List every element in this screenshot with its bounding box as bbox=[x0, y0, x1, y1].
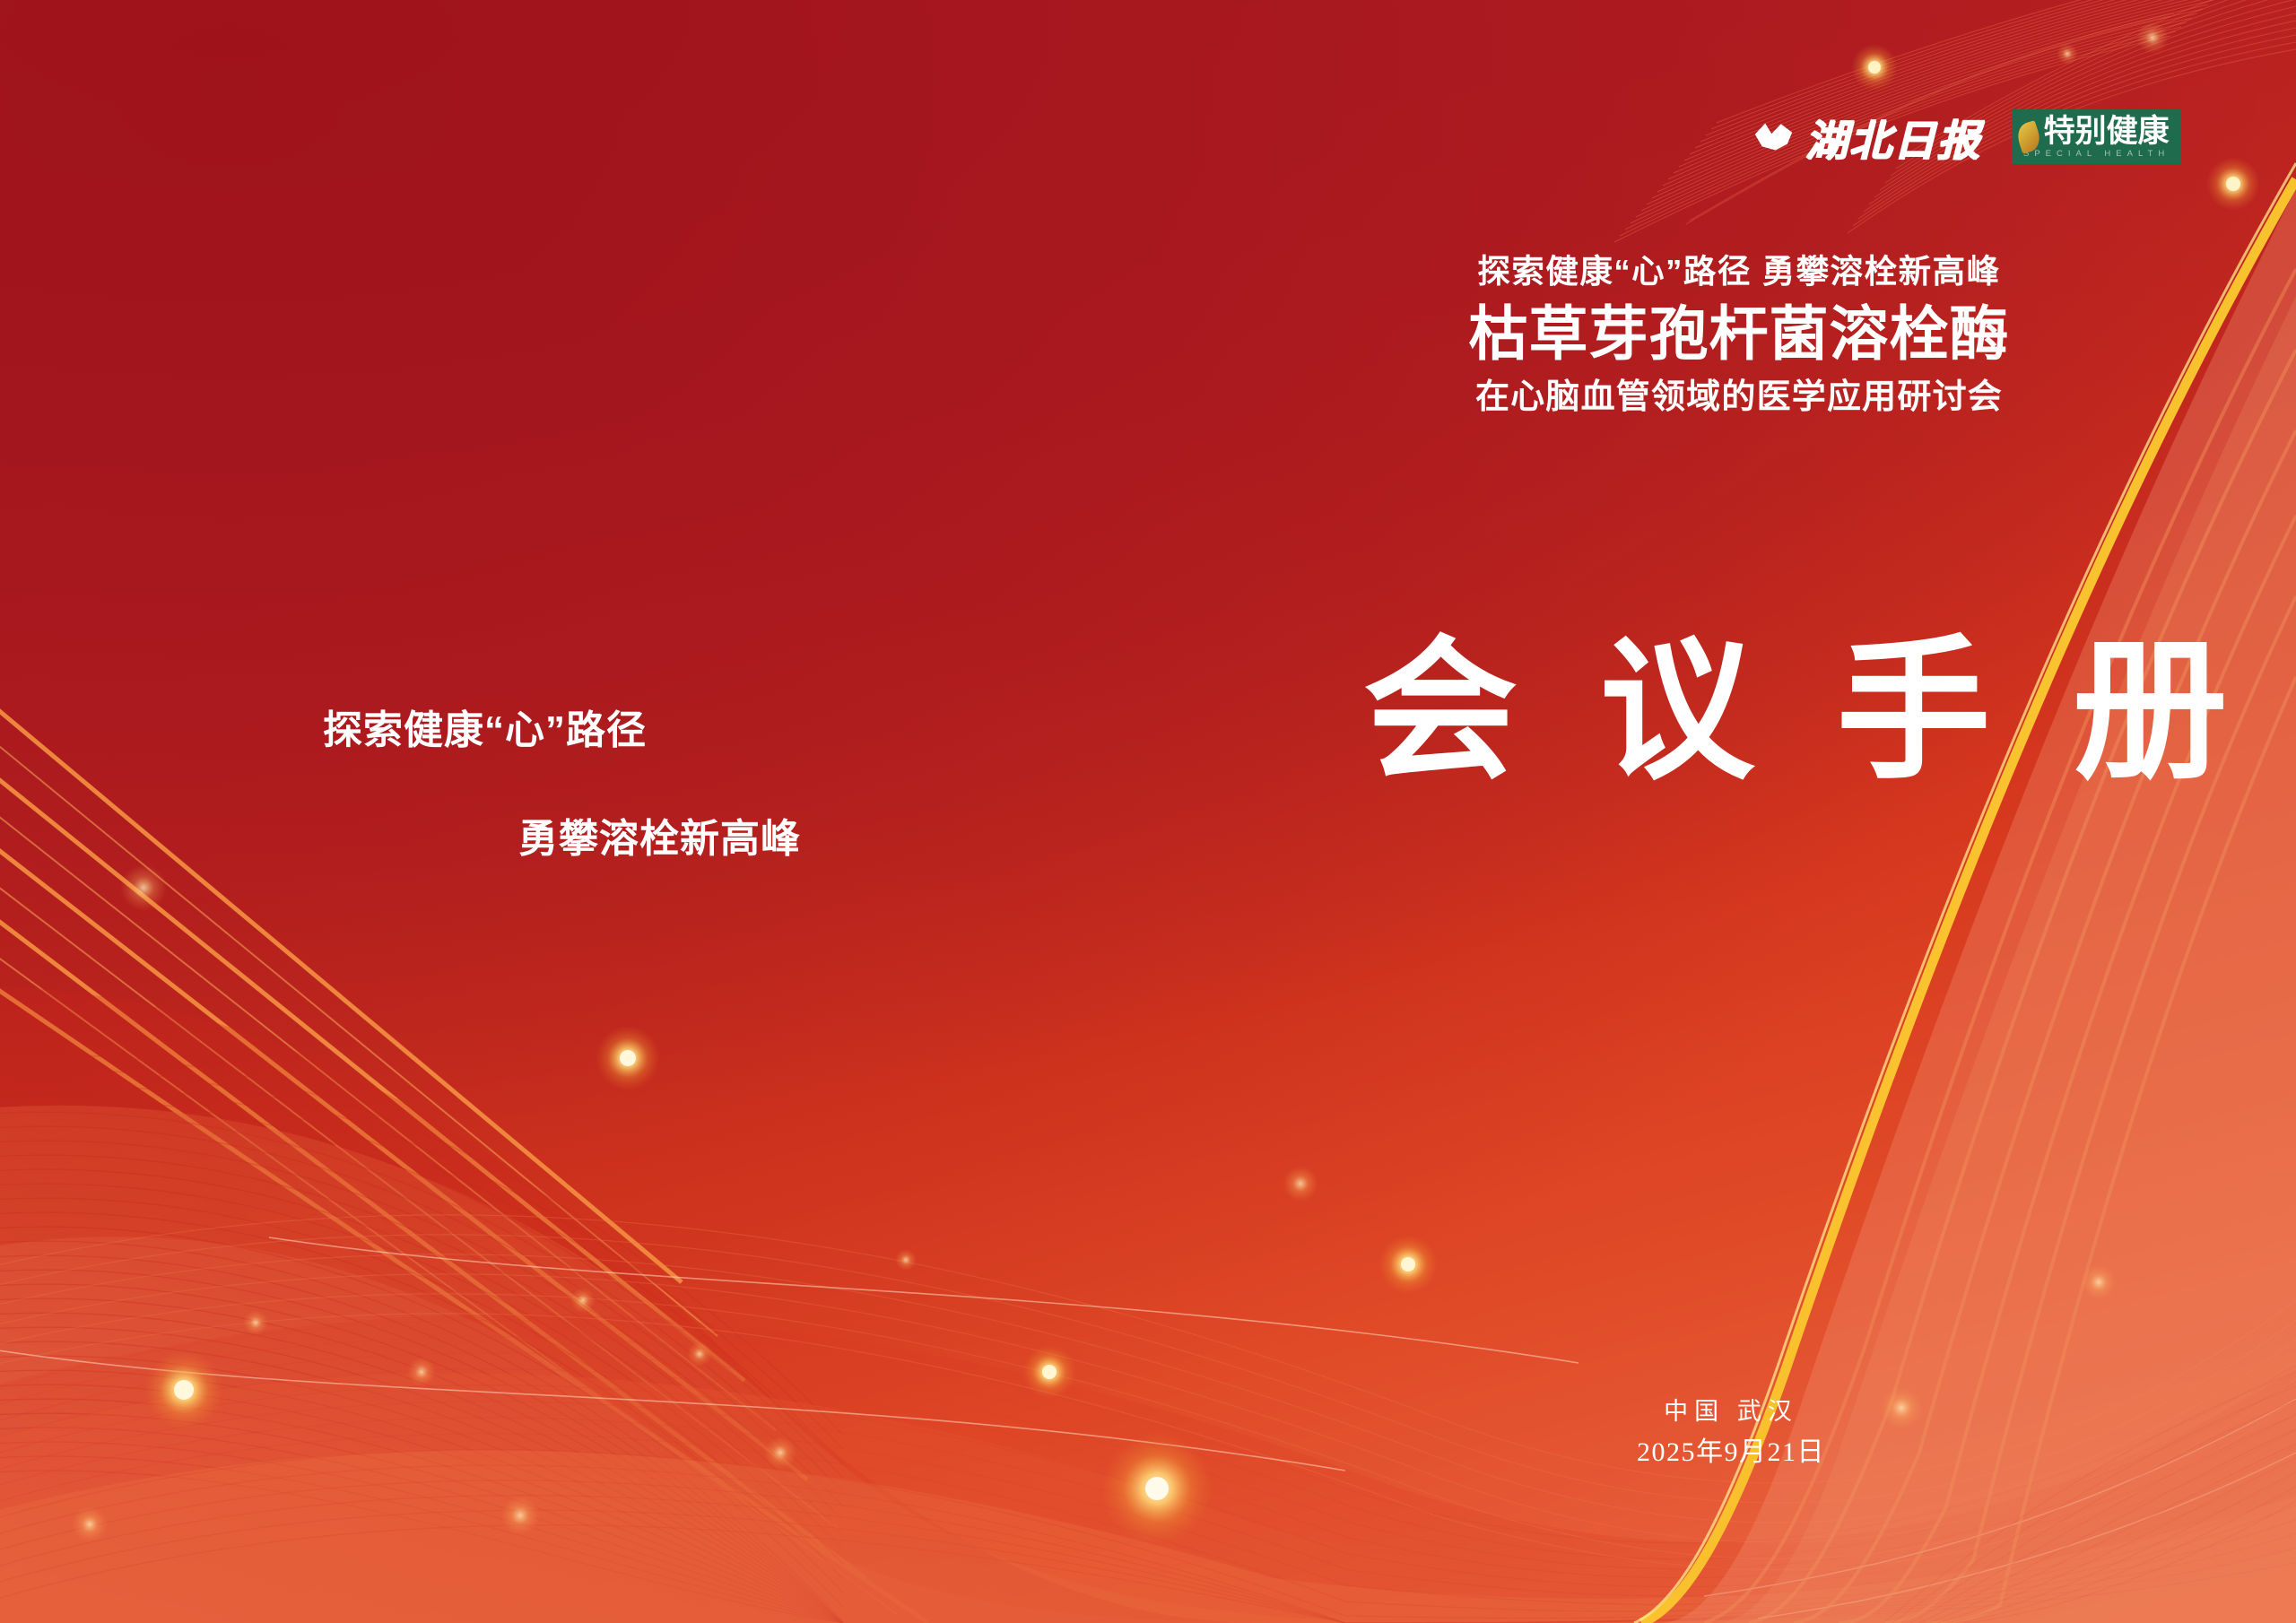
page-title: 会 议 手 册 bbox=[1363, 634, 2247, 788]
logo-row: 湖北日报 特别健康 SPECIAL HEALTH bbox=[1753, 106, 2181, 168]
conference-handbook-cover: 湖北日报 特别健康 SPECIAL HEALTH 探索健康“心”路径 勇攀溶栓新… bbox=[0, 0, 2296, 1623]
hubei-daily-label: 湖北日报 bbox=[1805, 106, 1981, 168]
special-health-label: 特别健康 bbox=[2024, 116, 2170, 147]
conference-topic: 枯草芽孢杆菌溶栓酶 bbox=[1367, 298, 2111, 370]
event-footer: 中国 武汉 2025年9月21日 bbox=[1605, 1394, 1857, 1472]
conference-subtitle: 在心脑血管领域的医学应用研讨会 bbox=[1367, 376, 2111, 420]
slogan-line-2: 勇攀溶栓新高峰 bbox=[518, 806, 801, 864]
slogan-block: 探索健康“心”路径 勇攀溶栓新高峰 bbox=[323, 698, 801, 864]
event-location: 中国 武汉 bbox=[1605, 1394, 1857, 1429]
event-date: 2025年9月21日 bbox=[1605, 1432, 1857, 1472]
special-health-logo: 特别健康 SPECIAL HEALTH bbox=[2012, 109, 2181, 163]
conference-header: 探索健康“心”路径 勇攀溶栓新高峰 枯草芽孢杆菌溶栓酶 在心脑血管领域的医学应用… bbox=[1367, 251, 2111, 421]
slogan-line-1: 探索健康“心”路径 bbox=[323, 698, 801, 755]
hubei-daily-logo: 湖北日报 bbox=[1753, 106, 1981, 168]
conference-tagline: 探索健康“心”路径 勇攀溶栓新高峰 bbox=[1367, 251, 2111, 292]
special-health-sublabel: SPECIAL HEALTH bbox=[2023, 148, 2170, 160]
bird-mark-icon bbox=[1753, 122, 1793, 152]
